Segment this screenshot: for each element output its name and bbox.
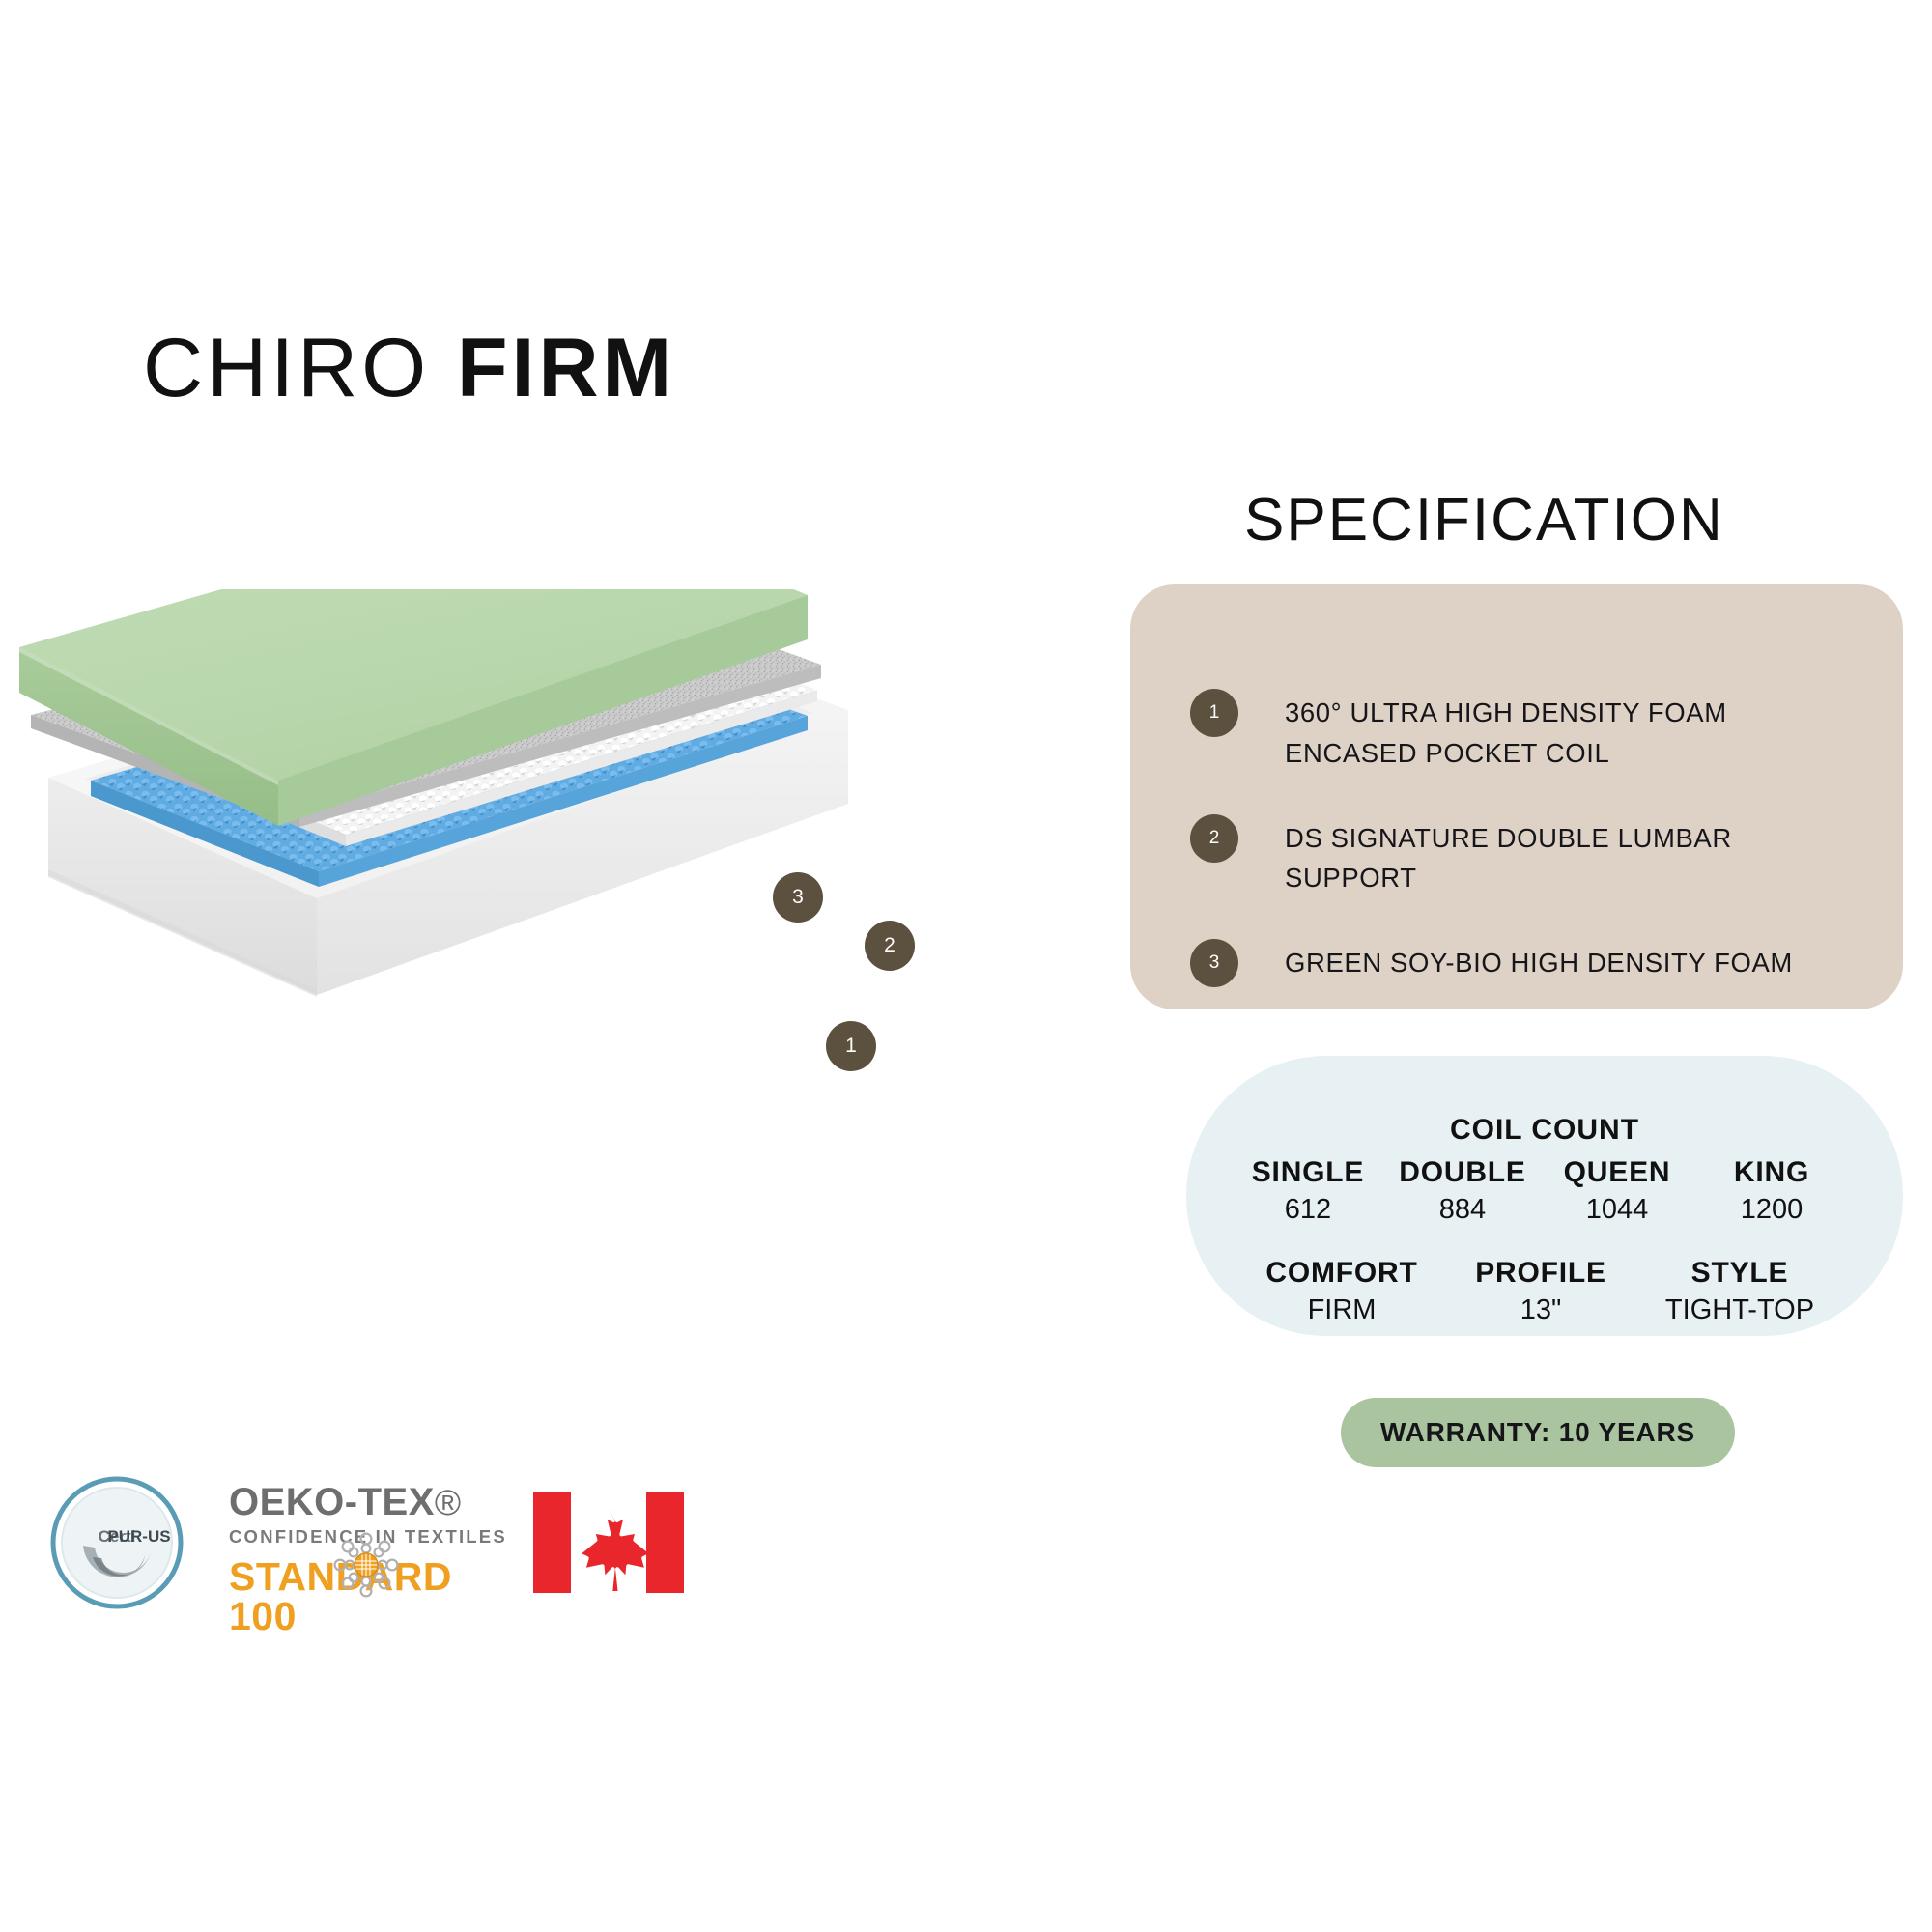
spec-item-3: 3 GREEN SOY-BIO HIGH DENSITY FOAM [1190, 943, 1845, 987]
coil-col-single: SINGLE 612 [1231, 1156, 1385, 1226]
coil-size-double: DOUBLE [1385, 1156, 1540, 1189]
spec-badge-3: 3 [1190, 939, 1238, 987]
layer-marker-3: 3 [773, 872, 823, 923]
coil-count-table: SINGLE 612 DOUBLE 884 QUEEN 1044 KING 12… [1231, 1156, 1849, 1226]
layer-marker-1: 1 [826, 1021, 876, 1071]
attr-label-style: STYLE [1640, 1257, 1839, 1290]
attr-label-profile: PROFILE [1441, 1257, 1640, 1290]
attr-value-profile: 13" [1441, 1294, 1640, 1326]
coil-count-queen: 1044 [1540, 1194, 1694, 1226]
coil-count-single: 612 [1231, 1194, 1385, 1226]
spec-badge-2: 2 [1190, 814, 1238, 863]
mattress-layer-illustration [10, 589, 879, 1246]
registered-mark-icon: ® [435, 1483, 462, 1522]
oeko-tex-name: OEKO-TEX [229, 1481, 435, 1523]
attr-value-style: TIGHT-TOP [1640, 1294, 1839, 1326]
attr-label-comfort: COMFORT [1242, 1257, 1441, 1290]
warranty-badge: WARRANTY: 10 YEARS [1341, 1398, 1735, 1467]
spec-item-1: 1 360° ULTRA HIGH DENSITY FOAM ENCASED P… [1190, 693, 1845, 774]
product-title-bold: FIRM [457, 322, 675, 414]
specification-panel: 1 360° ULTRA HIGH DENSITY FOAM ENCASED P… [1130, 584, 1903, 1009]
certipur-us-icon: Certi PUR-US [50, 1476, 184, 1609]
oeko-tex-wordmark: OEKO-TEX® [229, 1483, 519, 1521]
specification-heading: SPECIFICATION [1244, 486, 1724, 554]
attr-col-comfort: COMFORT FIRM [1242, 1257, 1441, 1326]
spec-text-2: DS SIGNATURE DOUBLE LUMBAR SUPPORT [1285, 818, 1845, 899]
coil-count-double: 884 [1385, 1194, 1540, 1226]
coil-count-panel: COIL COUNT SINGLE 612 DOUBLE 884 QUEEN 1… [1186, 1056, 1903, 1336]
page-title: CHIRO FIRM [143, 327, 675, 410]
attr-col-style: STYLE TIGHT-TOP [1640, 1257, 1839, 1326]
attr-value-comfort: FIRM [1242, 1294, 1441, 1326]
spec-badge-1: 1 [1190, 689, 1238, 737]
coil-col-king: KING 1200 [1694, 1156, 1849, 1226]
spec-item-2: 2 DS SIGNATURE DOUBLE LUMBAR SUPPORT [1190, 818, 1845, 899]
coil-size-queen: QUEEN [1540, 1156, 1694, 1189]
coil-count-title: COIL COUNT [1186, 1114, 1903, 1147]
layer-marker-2: 2 [865, 921, 915, 971]
product-title-light: CHIRO [143, 322, 430, 414]
attributes-table: COMFORT FIRM PROFILE 13" STYLE TIGHT-TOP [1242, 1257, 1839, 1326]
spec-text-3: GREEN SOY-BIO HIGH DENSITY FOAM [1285, 943, 1793, 983]
coil-size-king: KING [1694, 1156, 1849, 1189]
coil-col-queen: QUEEN 1044 [1540, 1156, 1694, 1226]
svg-text:PUR-US: PUR-US [107, 1527, 170, 1546]
attr-col-profile: PROFILE 13" [1441, 1257, 1640, 1326]
coil-col-double: DOUBLE 884 [1385, 1156, 1540, 1226]
spec-text-1: 360° ULTRA HIGH DENSITY FOAM ENCASED POC… [1285, 693, 1845, 774]
coil-size-single: SINGLE [1231, 1156, 1385, 1189]
canada-flag-icon [533, 1492, 684, 1593]
coil-count-king: 1200 [1694, 1194, 1849, 1226]
oeko-tex-sunburst-icon [332, 1531, 400, 1599]
